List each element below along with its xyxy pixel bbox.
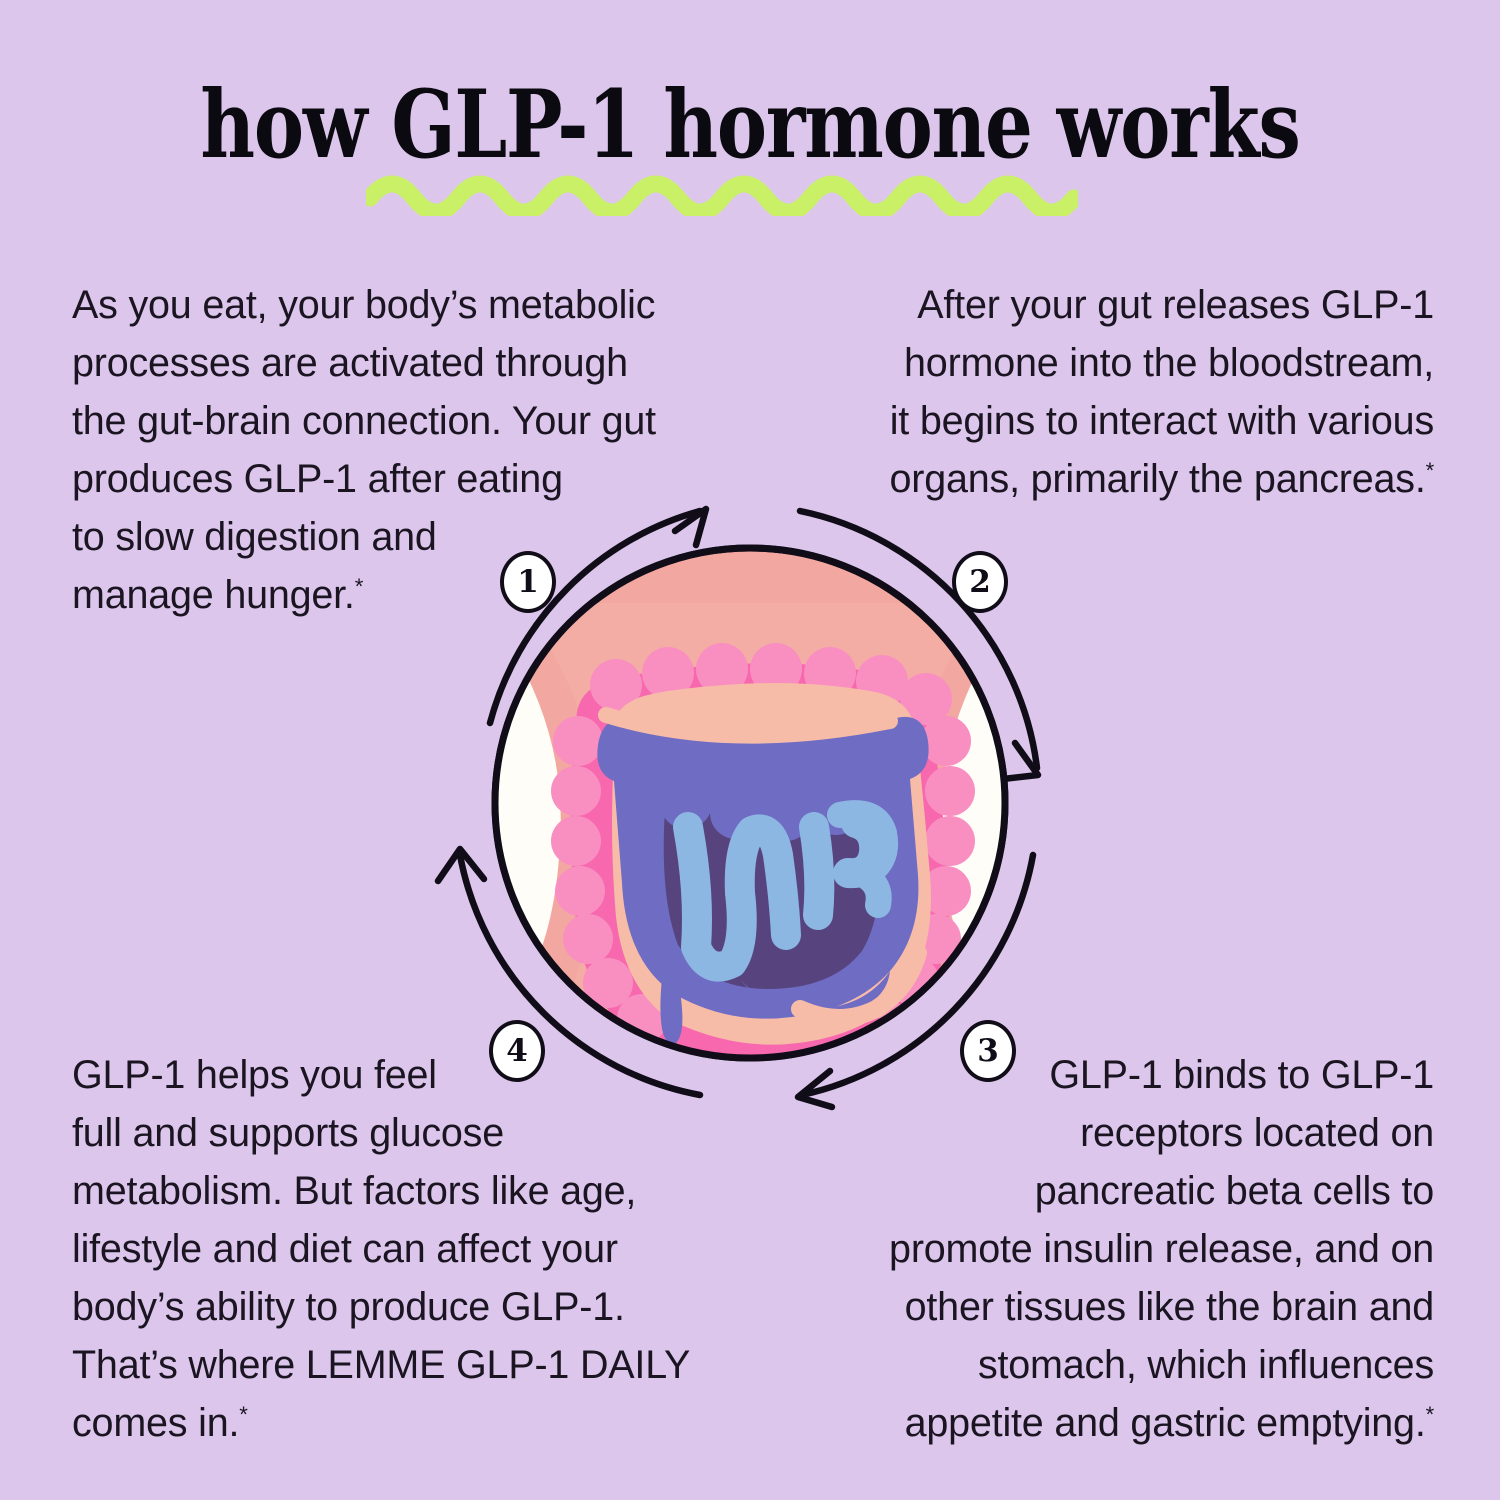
- step-badge-3[interactable]: 3: [960, 1020, 1016, 1082]
- step-4-footnote-marker: *: [239, 1402, 247, 1427]
- step-badge-4[interactable]: 4: [489, 1020, 545, 1082]
- step-badge-1-label: 1: [517, 567, 539, 598]
- step-2-footnote-marker: *: [1426, 458, 1434, 483]
- step-1-footnote-marker: *: [355, 574, 363, 599]
- step-badge-2[interactable]: 2: [952, 551, 1008, 613]
- step-badge-3-label: 3: [977, 1036, 999, 1067]
- rectum-stub: [753, 1055, 792, 1147]
- page-title-wrap: how GLP-1 hormone works: [0, 78, 1500, 174]
- infographic-canvas: how GLP-1 hormone works As you eat, your…: [0, 0, 1500, 1500]
- glp1-cycle-diagram: [370, 423, 1130, 1183]
- step-badge-1[interactable]: 1: [500, 551, 556, 613]
- squiggle-underline-icon: [366, 168, 1078, 216]
- page-title: how GLP-1 hormone works: [150, 78, 1350, 174]
- step-badge-4-label: 4: [506, 1036, 528, 1067]
- step-badge-2-label: 2: [969, 567, 991, 598]
- step-3-footnote-marker: *: [1426, 1402, 1434, 1427]
